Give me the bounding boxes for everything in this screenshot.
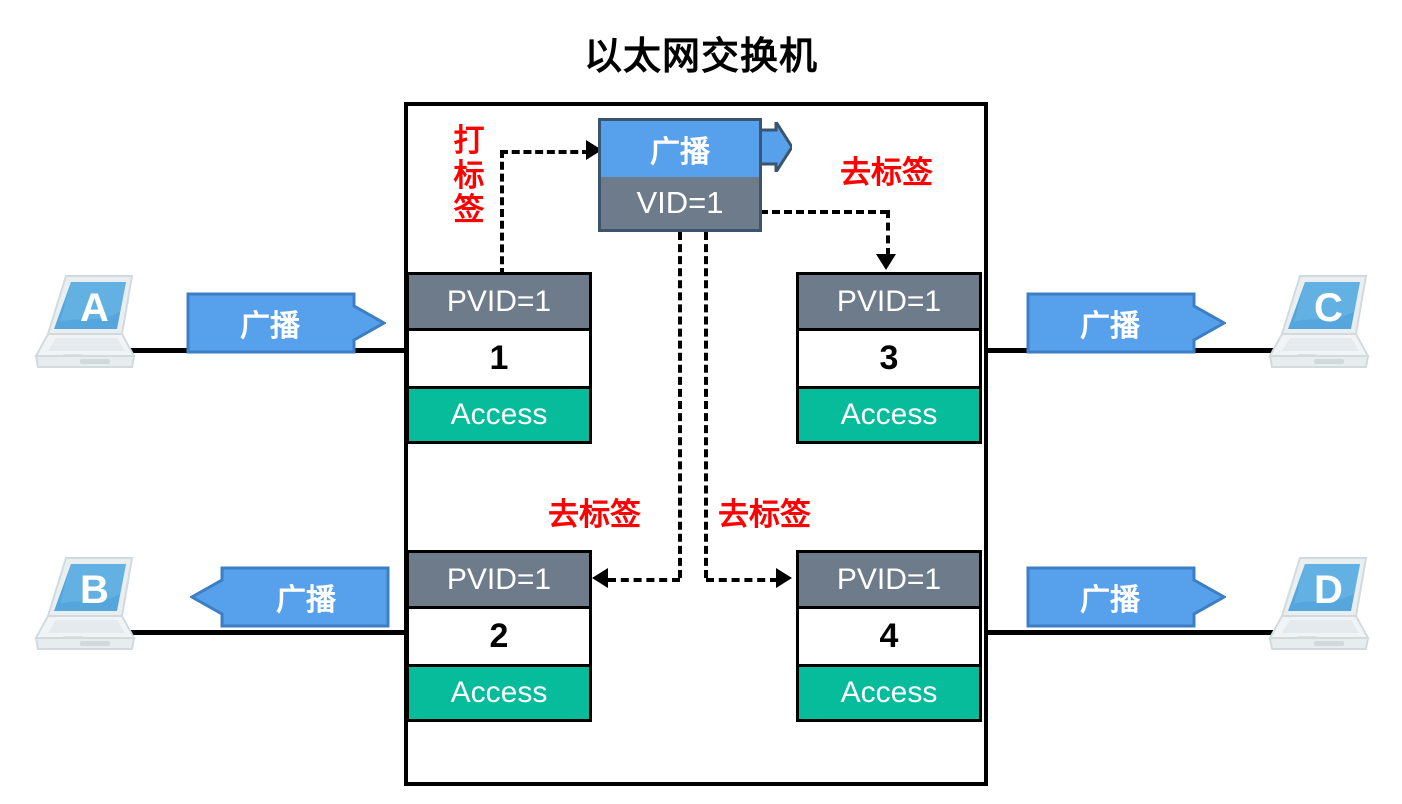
port-module-1[interactable]: PVID=1 1 Access bbox=[406, 272, 592, 444]
port-1-number: 1 bbox=[409, 331, 589, 389]
cable-b-to-port2 bbox=[120, 630, 410, 635]
dash-to-port3-horizontal bbox=[760, 210, 888, 214]
port-1-pvid: PVID=1 bbox=[409, 275, 589, 331]
annotation-tag-remove-bottom-right: 去标签 bbox=[718, 498, 811, 531]
annotation-tag-remove-top-right: 去标签 bbox=[840, 156, 933, 189]
dash-to-port2-vertical bbox=[678, 232, 682, 578]
broadcast-frame: 广播 VID=1 bbox=[598, 118, 762, 232]
frame-arrow-icon bbox=[760, 122, 792, 172]
port-3-pvid: PVID=1 bbox=[799, 275, 979, 331]
port-2-number: 2 bbox=[409, 609, 589, 667]
port-3-mode: Access bbox=[799, 389, 979, 441]
host-a-laptop-icon: A bbox=[22, 272, 146, 378]
dash-to-port3-vertical bbox=[886, 210, 890, 256]
banner-broadcast-b: 广播 bbox=[190, 566, 390, 628]
port-1-mode: Access bbox=[409, 389, 589, 441]
port-4-number: 4 bbox=[799, 609, 979, 667]
annotation-tag-remove-bottom-left: 去标签 bbox=[548, 498, 641, 531]
port-2-pvid: PVID=1 bbox=[409, 553, 589, 609]
frame-type-label: 广播 bbox=[601, 121, 759, 177]
page-title: 以太网交换机 bbox=[0, 38, 1402, 76]
arrow-to-port4-head bbox=[776, 568, 792, 588]
cable-port4-to-d bbox=[980, 630, 1280, 635]
banner-broadcast-c: 广播 bbox=[1026, 292, 1226, 354]
dash-tag-add-horizontal bbox=[500, 150, 590, 154]
arrow-to-port2-head bbox=[592, 568, 608, 588]
port-module-3[interactable]: PVID=1 3 Access bbox=[796, 272, 982, 444]
annotation-tag-add: 打标签 bbox=[452, 124, 486, 228]
diagram-canvas: 以太网交换机 广播 VID=1 打标签 去标签 去标签 去标签 PVID=1 1… bbox=[0, 0, 1402, 804]
dash-to-port4-vertical bbox=[704, 232, 708, 578]
dash-tag-add-vertical bbox=[500, 150, 504, 276]
dash-to-port2-horizontal bbox=[608, 578, 680, 582]
port-4-pvid: PVID=1 bbox=[799, 553, 979, 609]
port-module-4[interactable]: PVID=1 4 Access bbox=[796, 550, 982, 722]
dash-to-port4-horizontal bbox=[706, 578, 778, 582]
port-4-mode: Access bbox=[799, 667, 979, 719]
port-3-number: 3 bbox=[799, 331, 979, 389]
host-d-laptop-icon: D bbox=[1256, 554, 1380, 660]
port-module-2[interactable]: PVID=1 2 Access bbox=[406, 550, 592, 722]
frame-vid-label: VID=1 bbox=[601, 177, 759, 229]
host-c-laptop-icon: C bbox=[1256, 272, 1380, 378]
banner-broadcast-a: 广播 bbox=[186, 292, 386, 354]
host-b-laptop-icon: B bbox=[22, 554, 146, 660]
arrow-to-port3-head bbox=[876, 254, 896, 270]
port-2-mode: Access bbox=[409, 667, 589, 719]
banner-broadcast-d: 广播 bbox=[1026, 566, 1226, 628]
